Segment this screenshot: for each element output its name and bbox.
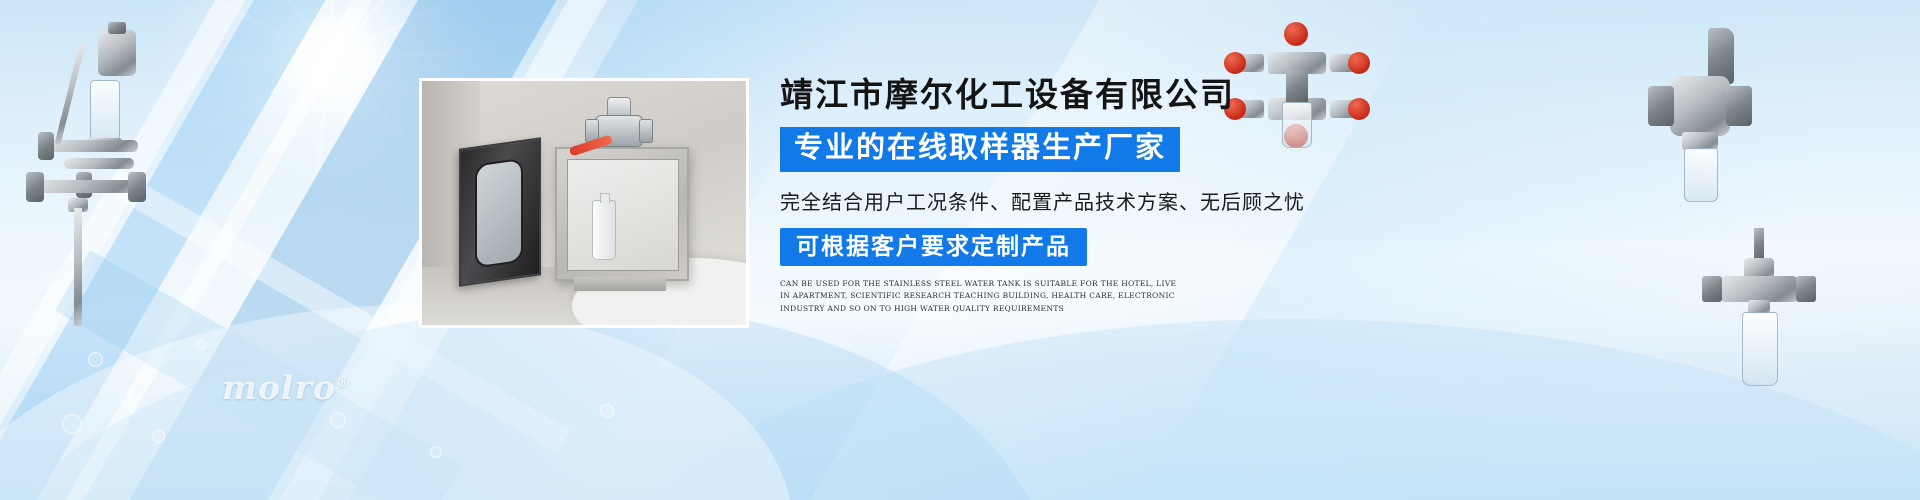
secondary-tagline: 完全结合用户工况条件、配置产品技术方案、无后顾之忧 (780, 186, 1420, 215)
product-photo[interactable] (419, 78, 749, 328)
bubble-decoration (196, 340, 206, 350)
bubble-decoration (152, 430, 165, 443)
bubble-decoration (330, 412, 346, 428)
photo-cabinet-interior (567, 159, 679, 271)
banner-text-block: 靖江市摩尔化工设备有限公司 专业的在线取样器生产厂家 完全结合用户工况条件、配置… (780, 76, 1420, 315)
photo-valve-flange (639, 119, 653, 143)
bubble-decoration (120, 392, 131, 403)
primary-tagline-badge: 专业的在线取样器生产厂家 (780, 127, 1180, 172)
english-description: CAN BE USED FOR THE STAINLESS STEEL WATE… (780, 278, 1180, 315)
photo-sample-bottle (592, 200, 616, 260)
photo-valve-assembly (585, 97, 651, 159)
product-silhouette-bottom-right-sampler (1700, 228, 1820, 403)
photo-door-window (475, 158, 523, 269)
bubble-decoration (88, 352, 103, 367)
watermark-registered-mark: ® (336, 373, 352, 391)
photo-cabinet (555, 147, 689, 281)
product-silhouette-left-sampler (12, 22, 162, 322)
photo-cabinet-stand (574, 277, 666, 291)
watermark-logo: molro® (222, 368, 352, 407)
bubble-decoration (62, 414, 82, 434)
bubble-decoration (600, 404, 614, 418)
company-title: 靖江市摩尔化工设备有限公司 (780, 76, 1420, 114)
custom-product-badge: 可根据客户要求定制产品 (780, 228, 1087, 266)
product-silhouette-right-valve (1630, 28, 1760, 208)
photo-cabinet-door (459, 137, 541, 287)
watermark-text: molro (222, 368, 336, 407)
bubble-decoration (430, 446, 442, 458)
promotional-banner: 靖江市摩尔化工设备有限公司 专业的在线取样器生产厂家 完全结合用户工况条件、配置… (0, 0, 1920, 500)
